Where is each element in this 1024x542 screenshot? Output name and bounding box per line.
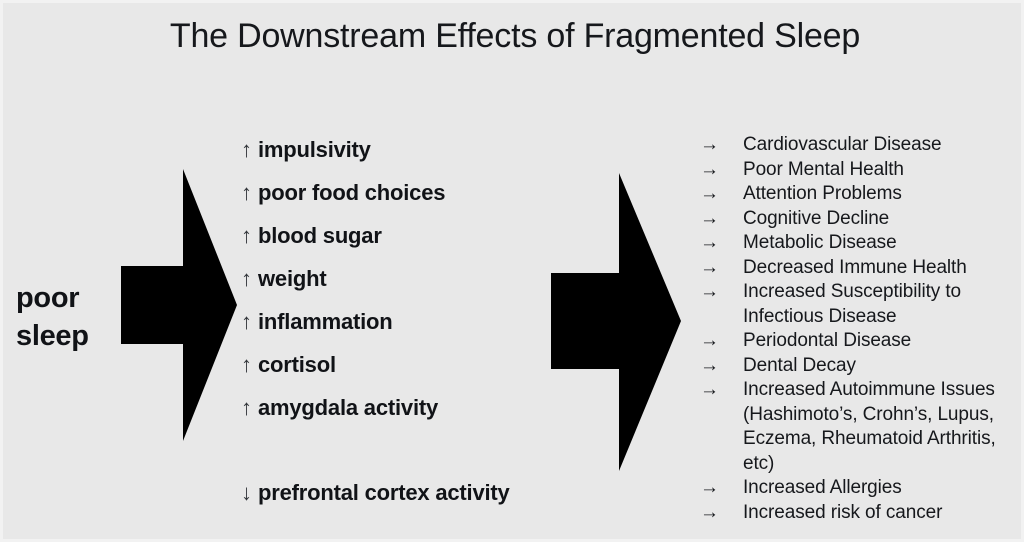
effect-label: amygdala activity (258, 395, 438, 421)
outcome-item: →Cognitive Decline (700, 207, 1024, 232)
source-label: poorsleep (16, 279, 89, 355)
effect-label: impulsivity (258, 137, 371, 163)
arrow-right-bullet-icon: → (700, 280, 743, 305)
source-label-line: sleep (16, 317, 89, 355)
outcome-item: →Decreased Immune Health (700, 256, 1024, 281)
outcome-label: Increased Autoimmune Issues (743, 378, 1024, 403)
outcome-item: →Cardiovascular Disease (700, 133, 1024, 158)
effect-label: weight (258, 266, 326, 292)
arrow-up-icon: ↑ (241, 137, 258, 163)
outcome-bullet-spacer: → (700, 427, 743, 452)
arrow-right-bullet-icon: → (700, 207, 743, 232)
effect-label: blood sugar (258, 223, 382, 249)
outcome-item: →Increased Allergies (700, 476, 1024, 501)
effect-item: ↑blood sugar (241, 223, 541, 266)
effect-label: inflammation (258, 309, 393, 335)
arrow-effects-to-outcomes-icon (551, 173, 681, 471)
outcome-label: Periodontal Disease (743, 329, 1024, 354)
arrow-up-icon: ↑ (241, 395, 258, 421)
outcome-item: →Dental Decay (700, 354, 1024, 379)
outcome-bullet-spacer: → (700, 305, 743, 330)
effect-item: ↑impulsivity (241, 137, 541, 180)
arrow-right-bullet-icon: → (700, 231, 743, 256)
outcome-label: etc) (743, 452, 1024, 477)
outcome-label: Eczema, Rheumatoid Arthritis, (743, 427, 1024, 452)
effects-list: ↑impulsivity↑poor food choices↑blood sug… (241, 137, 541, 523)
arrow-up-icon: ↑ (241, 309, 258, 335)
outcome-label: (Hashimoto’s, Crohn’s, Lupus, (743, 403, 1024, 428)
arrow-right-bullet-icon: → (700, 256, 743, 281)
outcome-bullet-spacer: → (700, 403, 743, 428)
outcome-item: →Increased risk of cancer (700, 501, 1024, 526)
effect-item: ↓prefrontal cortex activity (241, 480, 541, 523)
effect-item: ↑weight (241, 266, 541, 309)
arrow-right-bullet-icon: → (700, 378, 743, 403)
arrow-right-bullet-icon: → (700, 182, 743, 207)
effect-item: ↑amygdala activity (241, 395, 541, 438)
effect-item: ↑inflammation (241, 309, 541, 352)
effect-label: cortisol (258, 352, 336, 378)
outcome-label: Cardiovascular Disease (743, 133, 1024, 158)
outcome-label: Dental Decay (743, 354, 1024, 379)
arrow-up-icon: ↑ (241, 180, 258, 206)
arrow-up-icon: ↑ (241, 266, 258, 292)
source-label-line: poor (16, 279, 89, 317)
outcome-label: Decreased Immune Health (743, 256, 1024, 281)
outcome-item: →Attention Problems (700, 182, 1024, 207)
effect-item: ↑cortisol (241, 352, 541, 395)
outcome-item: →Increased Susceptibility to (700, 280, 1024, 305)
arrow-right-bullet-icon: → (700, 133, 743, 158)
arrow-up-icon: ↑ (241, 223, 258, 249)
outcome-label: Metabolic Disease (743, 231, 1024, 256)
outcome-item-continuation: →etc) (700, 452, 1024, 477)
outcome-item: →Poor Mental Health (700, 158, 1024, 183)
outcome-label: Increased Allergies (743, 476, 1024, 501)
outcome-item: →Metabolic Disease (700, 231, 1024, 256)
arrow-right-bullet-icon: → (700, 158, 743, 183)
page-title: The Downstream Effects of Fragmented Sle… (3, 15, 1024, 57)
slide-canvas: The Downstream Effects of Fragmented Sle… (0, 0, 1024, 542)
effect-label: poor food choices (258, 180, 445, 206)
outcome-item: →Increased Autoimmune Issues (700, 378, 1024, 403)
outcome-label: Increased risk of cancer (743, 501, 1024, 526)
outcome-item-continuation: →Eczema, Rheumatoid Arthritis, (700, 427, 1024, 452)
arrow-right-bullet-icon: → (700, 501, 743, 526)
arrow-right-bullet-icon: → (700, 476, 743, 501)
effect-label: prefrontal cortex activity (258, 480, 510, 506)
arrow-right-bullet-icon: → (700, 354, 743, 379)
effect-item: ↑poor food choices (241, 180, 541, 223)
arrow-right-bullet-icon: → (700, 329, 743, 354)
outcome-label: Cognitive Decline (743, 207, 1024, 232)
outcomes-list: →Cardiovascular Disease→Poor Mental Heal… (700, 133, 1024, 525)
outcome-label: Poor Mental Health (743, 158, 1024, 183)
outcome-item-continuation: →(Hashimoto’s, Crohn’s, Lupus, (700, 403, 1024, 428)
outcome-label: Infectious Disease (743, 305, 1024, 330)
arrow-down-icon: ↓ (241, 480, 258, 506)
arrow-up-icon: ↑ (241, 352, 258, 378)
arrow-poor-sleep-to-effects-icon (121, 169, 237, 441)
outcome-item: →Periodontal Disease (700, 329, 1024, 354)
outcome-item-continuation: →Infectious Disease (700, 305, 1024, 330)
outcome-label: Increased Susceptibility to (743, 280, 1024, 305)
outcome-label: Attention Problems (743, 182, 1024, 207)
outcome-bullet-spacer: → (700, 452, 743, 477)
